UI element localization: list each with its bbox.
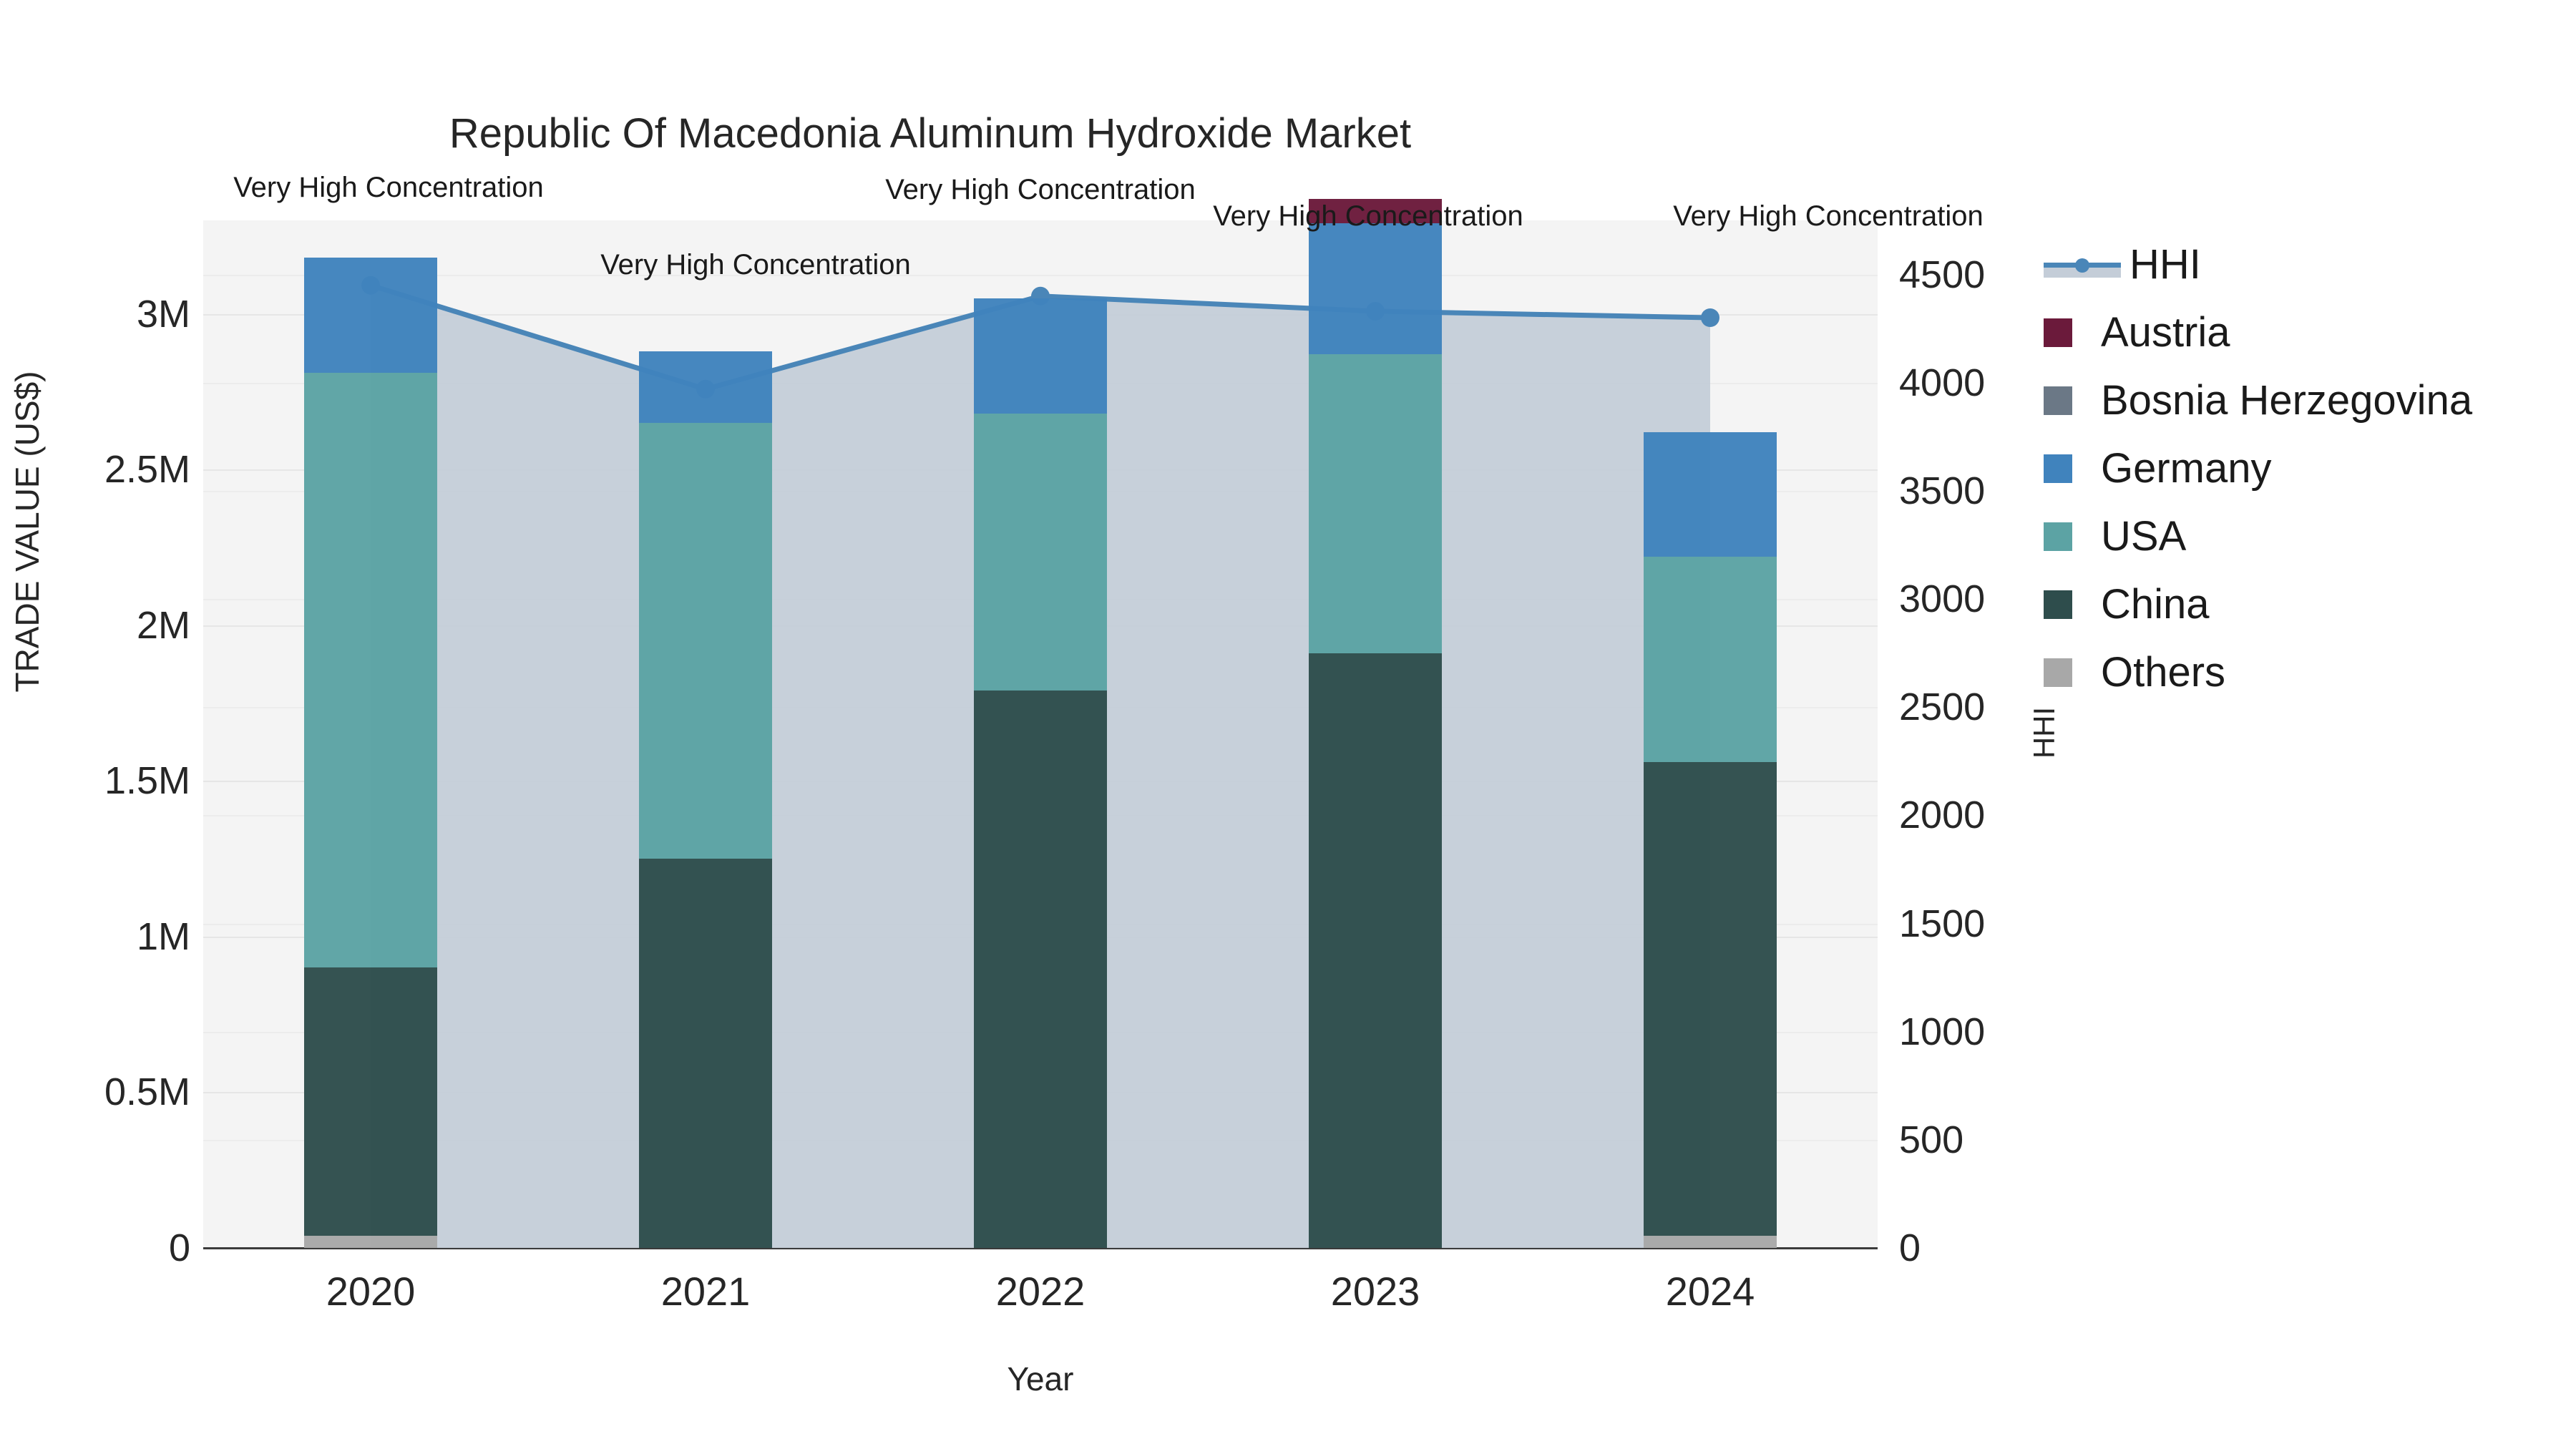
legend-label: USA (2101, 512, 2186, 560)
legend-swatch-icon (2044, 318, 2072, 347)
legend-label: Germany (2101, 444, 2272, 492)
legend-label: Austria (2101, 308, 2230, 356)
legend-label: Others (2101, 648, 2225, 696)
legend-item[interactable]: Austria (2044, 298, 2472, 366)
bar-group[interactable] (974, 220, 1107, 1248)
bar-group[interactable] (639, 220, 772, 1248)
y-tick-label-left: 1M (11, 914, 190, 959)
legend-label: HHI (2129, 240, 2201, 288)
concentration-annotation: Very High Concentration (600, 249, 911, 281)
chart-root: Republic Of Macedonia Aluminum Hydroxide… (0, 0, 2576, 1449)
legend-label: Bosnia Herzegovina (2101, 376, 2472, 424)
y-tick-label-right: 3000 (1899, 577, 1985, 621)
bar-segment[interactable] (304, 1236, 437, 1248)
bar-segment[interactable] (974, 691, 1107, 1248)
y-tick-label-right: 3500 (1899, 469, 1985, 513)
y-tick-label-right: 0 (1899, 1226, 1921, 1270)
bar-segment[interactable] (304, 967, 437, 1235)
bar-segment[interactable] (974, 298, 1107, 414)
bar-segment[interactable] (304, 373, 437, 967)
bar-segment[interactable] (1644, 762, 1777, 1235)
bar-segment[interactable] (1309, 223, 1442, 354)
x-tick-label: 2023 (1331, 1268, 1420, 1314)
x-axis-label: Year (203, 1360, 1878, 1398)
legend-item[interactable]: China (2044, 570, 2472, 638)
y-tick-label-right: 4500 (1899, 253, 1985, 297)
y-tick-label-left: 0 (11, 1226, 190, 1270)
bar-segment[interactable] (974, 414, 1107, 691)
chart-title-line1: Republic Of Macedonia Aluminum Hydroxide… (449, 110, 1411, 157)
x-tick-label: 2021 (661, 1268, 751, 1314)
x-tick-label: 2024 (1666, 1268, 1755, 1314)
bar-segment[interactable] (1644, 557, 1777, 762)
legend-swatch-icon (2044, 658, 2072, 687)
legend-line-marker-icon (2044, 250, 2121, 279)
bar-segment[interactable] (304, 258, 437, 373)
concentration-annotation: Very High Concentration (885, 174, 1196, 206)
bar-segment[interactable] (1309, 653, 1442, 1248)
concentration-annotation: Very High Concentration (1213, 200, 1523, 233)
legend-swatch-icon (2044, 522, 2072, 551)
bar-group[interactable] (1644, 220, 1777, 1248)
y-tick-label-right: 2500 (1899, 685, 1985, 729)
chart-legend: HHIAustriaBosnia HerzegovinaGermanyUSACh… (2044, 230, 2472, 706)
y-tick-label-right: 1000 (1899, 1010, 1985, 1054)
legend-item[interactable]: USA (2044, 502, 2472, 570)
concentration-annotation: Very High Concentration (1673, 200, 1984, 233)
x-tick-label: 2022 (996, 1268, 1085, 1314)
y-axis-left-label: TRADE VALUE (US$) (8, 245, 47, 818)
bar-group[interactable] (304, 220, 437, 1248)
bar-segment[interactable] (1309, 354, 1442, 653)
legend-item[interactable]: Germany (2044, 434, 2472, 502)
legend-item[interactable]: Others (2044, 638, 2472, 706)
bar-group[interactable] (1309, 220, 1442, 1248)
legend-swatch-icon (2044, 454, 2072, 483)
bar-segment[interactable] (1644, 1236, 1777, 1248)
concentration-annotation: Very High Concentration (233, 172, 544, 204)
legend-swatch-icon (2044, 590, 2072, 619)
bar-segment[interactable] (639, 423, 772, 859)
y-tick-label-right: 4000 (1899, 361, 1985, 405)
x-tick-label: 2020 (326, 1268, 416, 1314)
legend-item[interactable]: HHI (2044, 230, 2472, 298)
bar-segment[interactable] (639, 859, 772, 1248)
bar-segment[interactable] (639, 351, 772, 423)
y-tick-label-right: 1500 (1899, 902, 1985, 946)
y-tick-label-right: 2000 (1899, 793, 1985, 837)
y-tick-label-left: 0.5M (11, 1070, 190, 1114)
legend-label: China (2101, 580, 2210, 628)
legend-swatch-icon (2044, 386, 2072, 415)
bar-segment[interactable] (1644, 432, 1777, 557)
y-tick-label-right: 500 (1899, 1118, 1963, 1162)
legend-item[interactable]: Bosnia Herzegovina (2044, 366, 2472, 434)
